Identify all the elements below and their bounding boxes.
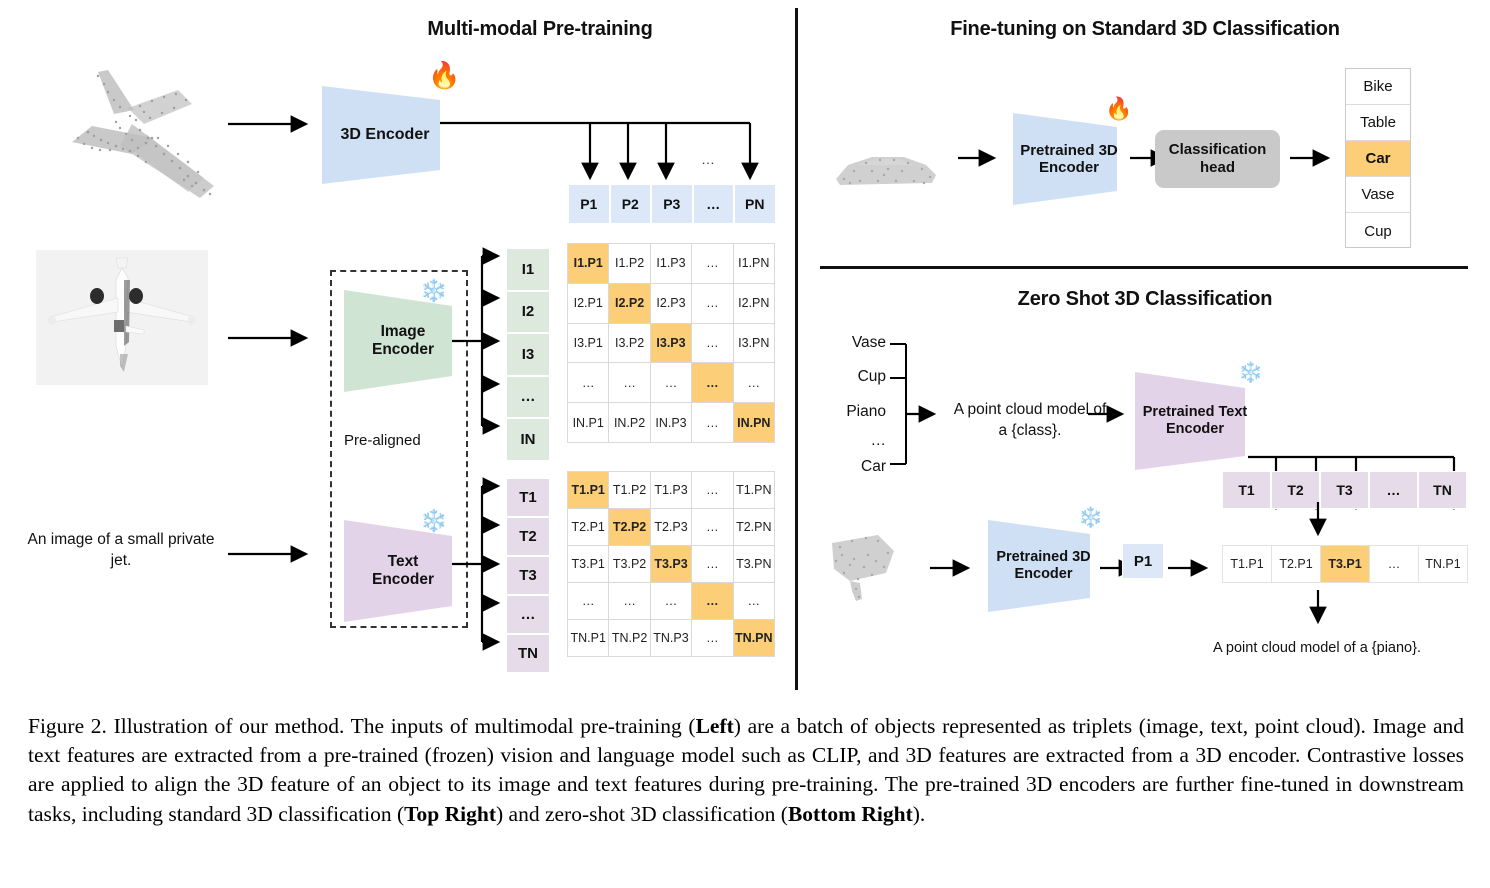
zeroshot-score-4: TN.P1 <box>1419 546 1467 582</box>
class-candidate-2: Piano <box>826 403 886 421</box>
image-point-cell-3-4: … <box>734 363 774 402</box>
image-point-cell-0-2: I1.P3 <box>651 244 691 283</box>
point-token-0: P1 <box>568 184 610 224</box>
zeroshot-score-row: T1.P1T2.P1T3.P1…TN.P1 <box>1222 545 1468 583</box>
text-point-cell-3-0: … <box>568 583 608 619</box>
airplane-rendered-image <box>36 250 208 385</box>
image-point-cell-2-3: … <box>692 324 732 363</box>
scores-to-result-arrow <box>1310 590 1326 632</box>
zeroshot-score-2: T3.P1 <box>1321 546 1369 582</box>
svg-text:…: … <box>701 151 715 167</box>
text-point-cell-2-4: T3.PN <box>734 546 774 582</box>
image-point-cell-1-0: I2.P1 <box>568 284 608 323</box>
image-point-cell-4-3: … <box>692 403 732 442</box>
point-token-row: P1P2P3…PN <box>568 184 776 224</box>
pretrained-3d-encoder-finetune[interactable]: Pretrained 3DEncoder <box>1013 113 1135 205</box>
class-bracket <box>888 340 948 468</box>
image-token-3: … <box>506 376 550 419</box>
zeroshot-point-token: P1 <box>1122 543 1164 579</box>
image-point-cell-1-1: I2.P2 <box>609 284 649 323</box>
car-to-encoder-arrow <box>958 150 1004 166</box>
class-item-bike[interactable]: Bike <box>1346 69 1410 105</box>
text-token-2: T3 <box>506 556 550 595</box>
text-point-cell-1-1: T2.P2 <box>609 509 649 545</box>
text-point-cell-1-0: T2.P1 <box>568 509 608 545</box>
figure-caption: Figure 2. Illustration of our method. Th… <box>28 712 1464 829</box>
zeroshot-score-3: … <box>1370 546 1418 582</box>
text-token-4: TN <box>506 634 550 673</box>
text-token-0: T1 <box>506 478 550 517</box>
image-point-cell-0-0: I1.P1 <box>568 244 608 283</box>
pretrained-text-encoder[interactable]: Pretrained TextEncoder <box>1135 372 1265 470</box>
text-point-cell-0-1: T1.P2 <box>609 472 649 508</box>
zeroshot-result: A point cloud model of a {piano}. <box>1182 640 1452 656</box>
piano-to-encoder-arrow <box>930 560 978 576</box>
image-token-0: I1 <box>506 248 550 291</box>
class-candidate-1: Cup <box>826 368 886 386</box>
image-point-similarity-matrix: I1.P1I1.P2I1.P3…I1.PNI2.P1I2.P2I2.P3…I2.… <box>567 243 775 443</box>
image-point-cell-3-3: … <box>692 363 732 402</box>
airplane-point-cloud <box>28 50 258 215</box>
snowflake-icon-text-encoder: ❄️ <box>1238 360 1263 385</box>
text-point-cell-2-0: T3.P1 <box>568 546 608 582</box>
top-right-panel-title: Fine-tuning on Standard 3D Classificatio… <box>845 18 1445 41</box>
encoder-text-label: TextEncoder <box>372 553 434 589</box>
point-token-2: P3 <box>651 184 693 224</box>
text-point-cell-4-1: TN.P2 <box>609 620 649 656</box>
image-point-cell-1-3: … <box>692 284 732 323</box>
class-candidate-4: Car <box>826 458 886 476</box>
point-token-1: P2 <box>610 184 652 224</box>
snowflake-icon-3d-zeroshot: ❄️ <box>1078 505 1103 530</box>
text-token-column: T1T2T3…TN <box>506 478 550 673</box>
text-point-cell-0-4: T1.PN <box>734 472 774 508</box>
point-token-3: … <box>693 184 735 224</box>
text-point-cell-3-1: … <box>609 583 649 619</box>
image-point-cell-3-0: … <box>568 363 608 402</box>
fire-icon: 🔥 <box>428 60 460 91</box>
figure-body: Multi-modal Pre-training <box>0 0 1490 700</box>
zeroshot-score-1: T2.P1 <box>1272 546 1320 582</box>
left-panel-title: Multi-modal Pre-training <box>290 18 790 41</box>
horizontal-divider <box>820 266 1468 269</box>
p1-to-scores-arrow <box>1168 560 1216 576</box>
text-point-cell-4-3: … <box>692 620 732 656</box>
text-point-similarity-matrix: T1.P1T1.P2T1.P3…T1.PNT2.P1T2.P2T2.P3…T2.… <box>567 471 775 657</box>
pre-aligned-label: Pre-aligned <box>344 432 421 449</box>
image-token-4: IN <box>506 418 550 461</box>
image-point-cell-4-2: IN.P3 <box>651 403 691 442</box>
zeroshot-text-token-4: TN <box>1418 471 1467 509</box>
image-point-cell-0-4: I1.PN <box>734 244 774 283</box>
fire-icon-finetune: 🔥 <box>1105 96 1132 122</box>
prompt-to-text-encoder-arrow <box>1088 406 1132 422</box>
image-point-cell-3-2: … <box>651 363 691 402</box>
image-token-arrows <box>452 248 508 438</box>
text-token-1: T2 <box>506 517 550 556</box>
image-point-cell-2-0: I3.P1 <box>568 324 608 363</box>
class-candidate-0: Vase <box>826 334 886 352</box>
pretrained-3d-encoder-zeroshot[interactable]: Pretrained 3DEncoder <box>988 520 1108 612</box>
classification-head-label: Classificationhead <box>1169 141 1267 177</box>
image-point-cell-2-4: I3.PN <box>734 324 774 363</box>
image-point-cell-1-4: I2.PN <box>734 284 774 323</box>
text-point-cell-3-2: … <box>651 583 691 619</box>
text-point-cell-1-3: … <box>692 509 732 545</box>
classification-head[interactable]: Classificationhead <box>1155 130 1280 188</box>
zeroshot-text-token-3: … <box>1369 471 1418 509</box>
snowflake-icon: ❄️ <box>420 278 447 304</box>
vertical-divider <box>795 8 798 690</box>
image-point-cell-4-1: IN.P2 <box>609 403 649 442</box>
image-token-2: I3 <box>506 333 550 376</box>
class-item-car[interactable]: Car <box>1346 141 1410 177</box>
text-point-cell-3-3: … <box>692 583 732 619</box>
image-point-cell-1-2: I2.P3 <box>651 284 691 323</box>
text-input-caption: An image of a small private jet. <box>26 530 216 572</box>
text-token-arrows <box>452 478 508 656</box>
pretrained-3d-encoder-label: Pretrained 3DEncoder <box>1020 142 1118 177</box>
car-point-cloud <box>826 135 946 195</box>
text-point-cell-0-0: T1.P1 <box>568 472 608 508</box>
class-item-vase[interactable]: Vase <box>1346 177 1410 213</box>
tokens-to-scores-arrow <box>1310 502 1326 544</box>
text-point-cell-4-4: TN.PN <box>734 620 774 656</box>
text-point-cell-4-2: TN.P3 <box>651 620 691 656</box>
text-token-3: … <box>506 595 550 634</box>
image-token-1: I2 <box>506 291 550 334</box>
class-item-table[interactable]: Table <box>1346 105 1410 141</box>
class-list-finetune[interactable]: BikeTableCarVaseCup <box>1345 68 1411 248</box>
class-candidate-3: … <box>826 432 886 450</box>
pretrained-3d-encoder-zeroshot-label: Pretrained 3DEncoder <box>996 549 1090 582</box>
head-to-classes-arrow <box>1290 150 1338 166</box>
image-point-cell-4-0: IN.P1 <box>568 403 608 442</box>
image-point-cell-0-3: … <box>692 244 732 283</box>
pretrained-text-encoder-label: Pretrained TextEncoder <box>1143 404 1248 437</box>
image-point-cell-3-1: … <box>609 363 649 402</box>
bottom-right-panel-title: Zero Shot 3D Classification <box>845 288 1445 311</box>
class-item-cup[interactable]: Cup <box>1346 213 1410 249</box>
encoder-image-label: ImageEncoder <box>372 323 434 359</box>
encoder-3d-label: 3D Encoder <box>341 126 430 144</box>
text-point-cell-1-2: T2.P3 <box>651 509 691 545</box>
image-point-cell-2-1: I3.P2 <box>609 324 649 363</box>
text-point-cell-1-4: T2.PN <box>734 509 774 545</box>
text-point-cell-3-4: … <box>734 583 774 619</box>
text-point-cell-0-2: T1.P3 <box>651 472 691 508</box>
point-token-4: PN <box>734 184 776 224</box>
text-point-cell-2-3: … <box>692 546 732 582</box>
text-point-cell-2-2: T3.P3 <box>651 546 691 582</box>
text-point-cell-0-3: … <box>692 472 732 508</box>
image-point-cell-2-2: I3.P3 <box>651 324 691 363</box>
text-point-cell-4-0: TN.P1 <box>568 620 608 656</box>
zeroshot-text-token-2: T3 <box>1320 471 1369 509</box>
piano-point-cloud <box>820 525 920 605</box>
image-token-column: I1I2I3…IN <box>506 248 550 461</box>
zeroshot-score-0: T1.P1 <box>1223 546 1271 582</box>
zeroshot-text-token-row: T1T2T3…TN <box>1222 471 1467 509</box>
image-point-cell-4-4: IN.PN <box>734 403 774 442</box>
snowflake-icon-2: ❄️ <box>420 508 447 534</box>
image-point-cell-0-1: I1.P2 <box>609 244 649 283</box>
zeroshot-text-token-0: T1 <box>1222 471 1271 509</box>
text-point-cell-2-1: T3.P2 <box>609 546 649 582</box>
point-token-arrows: … <box>440 118 760 193</box>
